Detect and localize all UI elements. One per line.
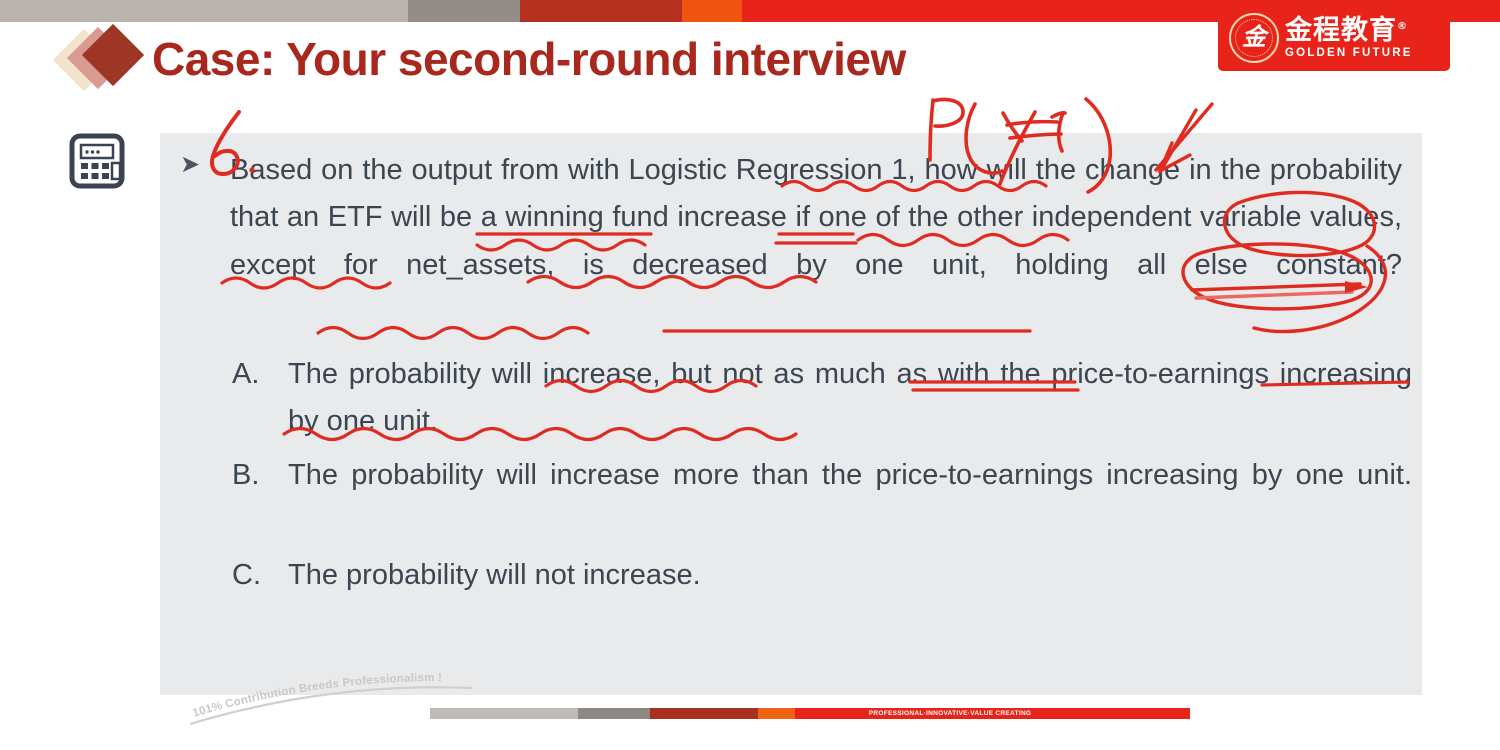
topbar-segment-light-gray — [0, 0, 408, 22]
answer-choice-c[interactable]: C. The probability will not increase. — [232, 552, 1412, 599]
brand-logo: 金 金程教育® GOLDEN FUTURE — [1221, 8, 1447, 68]
logo-seal-icon: 金 — [1229, 13, 1279, 63]
logo-seal-mark: 金 — [1242, 26, 1266, 50]
choice-text-b: The probability will increase more than … — [288, 452, 1412, 547]
content-panel: ➤ Based on the output from with Logistic… — [160, 133, 1422, 695]
footer-tagline: PROFESSIONAL·INNOVATIVE·VALUE CREATING — [795, 708, 1105, 719]
topbar-segment-orange — [682, 0, 742, 22]
slide-title-row: Case: Your second-round interview — [60, 28, 906, 90]
answer-choices-list: A. The probability will increase, but no… — [232, 351, 1412, 605]
botbar-segment-light-gray — [430, 708, 578, 719]
botbar-segment-dark-red — [650, 708, 758, 719]
logo-chinese-chars: 金程教育 — [1285, 15, 1397, 46]
question-block: Based on the output from with Logistic R… — [180, 147, 1402, 336]
topbar-segment-dark-red — [520, 0, 682, 22]
botbar-segment-red-end — [1105, 708, 1190, 719]
footer-watermark: 101% Contribution Breeds Professionalism… — [180, 668, 530, 728]
calculator-icon — [68, 132, 126, 190]
registered-mark: ® — [1397, 21, 1408, 32]
logo-text-group: 金程教育® GOLDEN FUTURE — [1285, 17, 1413, 58]
choice-text-c: The probability will not increase. — [288, 552, 1412, 599]
choice-text-a: The probability will increase, but not a… — [288, 351, 1412, 446]
topbar-segment-dark-gray — [408, 0, 520, 22]
diamond-cluster-icon — [60, 28, 152, 90]
logo-chinese-name: 金程教育® — [1285, 17, 1413, 45]
page-title: Case: Your second-round interview — [152, 32, 906, 86]
choice-letter-b: B. — [232, 452, 288, 547]
bottom-decorative-bar: PROFESSIONAL·INNOVATIVE·VALUE CREATING — [430, 708, 1190, 719]
botbar-segment-orange — [758, 708, 795, 719]
answer-choice-a[interactable]: A. The probability will increase, but no… — [232, 351, 1412, 446]
choice-letter-c: C. — [232, 552, 288, 599]
question-text: Based on the output from with Logistic R… — [230, 147, 1402, 336]
answer-choice-b[interactable]: B. The probability will increase more th… — [232, 452, 1412, 547]
choice-letter-a: A. — [232, 351, 288, 446]
botbar-segment-dark-gray — [578, 708, 650, 719]
slide-root: 金 金程教育® GOLDEN FUTURE Case: Your second-… — [0, 0, 1500, 750]
logo-english-name: GOLDEN FUTURE — [1285, 47, 1413, 59]
